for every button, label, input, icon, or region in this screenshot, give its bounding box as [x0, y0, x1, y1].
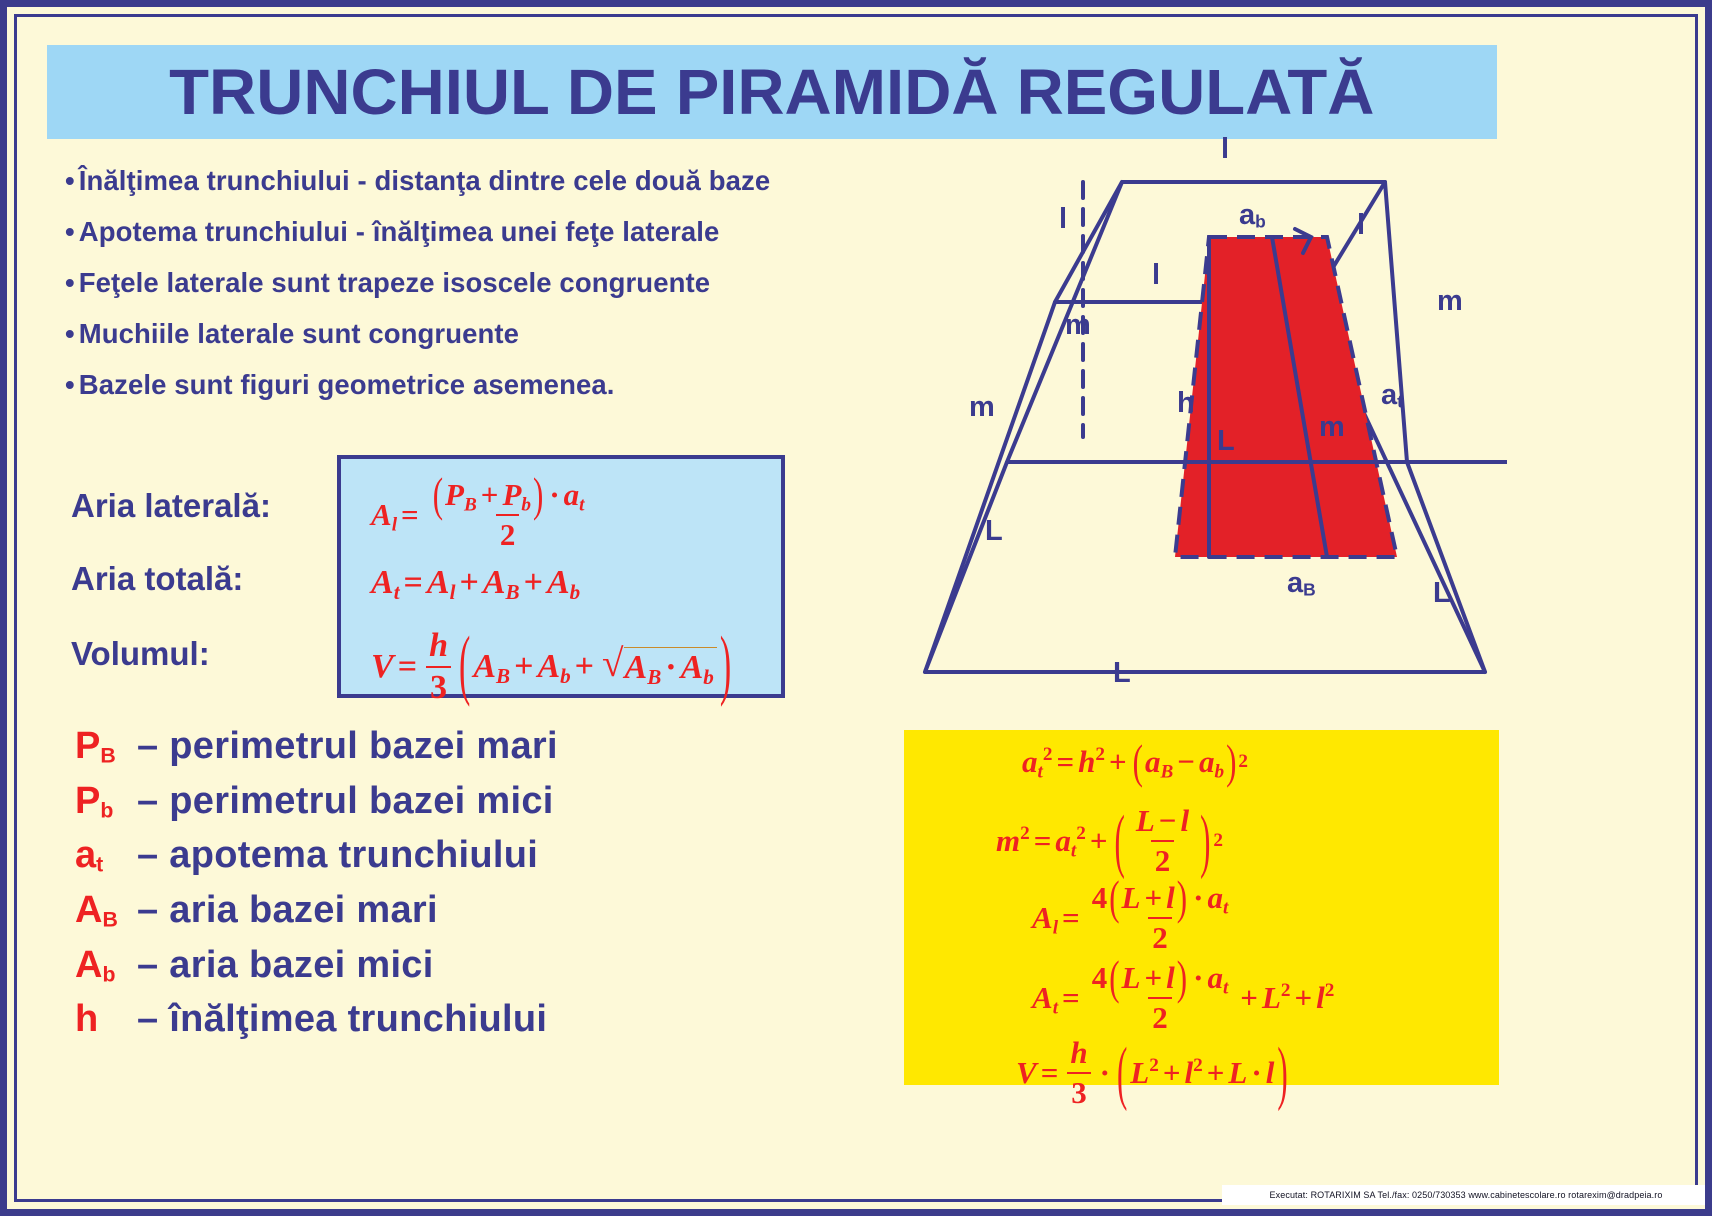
fig-label-L-right: L	[1433, 577, 1451, 610]
legend-symbol: h	[75, 998, 137, 1042]
formula-volumul: V = h 3 ( AB + Ab + √ AB·Ab )	[371, 627, 734, 707]
fig-label-l-right: l	[1357, 209, 1365, 242]
list-item-text: Muchiile laterale sunt congruente	[79, 318, 519, 349]
legend-item-h: h – înălţimea trunchiului	[75, 998, 875, 1042]
legend-item-PB: PB – perimetrul bazei mari	[75, 725, 875, 769]
bullet-icon: •	[65, 216, 75, 247]
properties-list: •Înălţimea trunchiului - distanţa dintre…	[65, 165, 895, 420]
fig-label-m-inner: m	[1065, 309, 1091, 342]
legend-item-Pb: Pb – perimetrul bazei mici	[75, 780, 875, 824]
fig-label-l-mid: l	[1152, 259, 1160, 292]
legend-description: – perimetrul bazei mari	[137, 725, 558, 768]
label-volumul: Volumul:	[71, 635, 210, 673]
list-item-text: Bazele sunt figuri geometrice asemenea.	[79, 369, 615, 400]
fig-label-h: h	[1177, 387, 1195, 420]
legend-symbol: PB	[75, 725, 137, 769]
list-item: •Apotema trunchiului - înălţimea unei fe…	[65, 216, 895, 248]
fig-label-a-t: at	[1381, 379, 1403, 412]
list-item: •Muchiile laterale sunt congruente	[65, 318, 895, 350]
poster-root: TRUNCHIUL DE PIRAMIDĂ REGULATĂ •Înălţime…	[0, 0, 1712, 1216]
lateral-edge-back-right	[1385, 182, 1407, 462]
legend-description: – aria bazei mari	[137, 889, 438, 932]
fig-label-m-right: m	[1437, 285, 1463, 318]
legend-item-at: at – apotema trunchiului	[75, 834, 875, 878]
blue-formula-box: Al = (PB+Pb)·at 2 At = Al + AB + Ab	[337, 455, 785, 698]
fig-label-L-bottom: L	[1113, 657, 1131, 690]
legend-symbol: Ab	[75, 944, 137, 988]
bullet-icon: •	[65, 369, 75, 400]
formula-muchie-relation: m2 = at2 + ( L−l 2 )2	[996, 803, 1223, 879]
footer-credit-text: Executat: ROTARIXIM SA Tel./fax: 0250/73…	[1270, 1190, 1663, 1200]
legend-item-AB: AB – aria bazei mari	[75, 889, 875, 933]
bullet-icon: •	[65, 165, 75, 196]
page-title: TRUNCHIUL DE PIRAMIDĂ REGULATĂ	[169, 55, 1374, 129]
list-item: •Feţele laterale sunt trapeze isoscele c…	[65, 267, 895, 299]
bullet-icon: •	[65, 267, 75, 298]
fig-label-a-b: ab	[1239, 199, 1266, 232]
lateral-edge-front-left	[925, 302, 1055, 672]
label-aria-laterala: Aria laterală:	[71, 487, 271, 525]
legend-item-Ab: Ab – aria bazei mici	[75, 944, 875, 988]
list-item-text: Feţele laterale sunt trapeze isoscele co…	[79, 267, 710, 298]
frustum-svg	[887, 137, 1507, 727]
fig-label-m-center: m	[1319, 411, 1345, 444]
formula-aria-laterala-patrat: Al = 4(L+l)·at 2	[1032, 880, 1236, 956]
fig-label-l-left-upper: l	[1059, 203, 1067, 236]
legend-description: – perimetrul bazei mici	[137, 780, 554, 823]
list-item: •Înălţimea trunchiului - distanţa dintre…	[65, 165, 895, 197]
formula-apotema-relation: at2 = h2 + (aB−ab)2	[1022, 744, 1248, 780]
list-item-text: Apotema trunchiului - înălţimea unei feţ…	[79, 216, 720, 247]
fig-label-l-top: l	[1221, 133, 1229, 166]
fig-label-a-B: aB	[1287, 567, 1316, 600]
fig-label-m-left: m	[969, 391, 995, 424]
frustum-diagram: l l l l ab m m m h at m L L aB L L	[887, 137, 1507, 727]
bullet-icon: •	[65, 318, 75, 349]
legend-symbol: Pb	[75, 780, 137, 824]
legend-description: – înălţimea trunchiului	[137, 998, 547, 1041]
fig-label-L-inner: L	[1217, 425, 1235, 458]
legend-symbol: at	[75, 834, 137, 878]
formula-label-column: Aria laterală: Aria totală: Volumul:	[67, 455, 332, 705]
list-item: •Bazele sunt figuri geometrice asemenea.	[65, 369, 895, 401]
formula-aria-totala-patrat: At = 4(L+l)·at 2 + L2 + l2	[1032, 960, 1334, 1036]
legend-symbol: AB	[75, 889, 137, 933]
yellow-formula-box: at2 = h2 + (aB−ab)2 m2 = at2 + ( L−l 2 )…	[904, 730, 1499, 1085]
list-item-text: Înălţimea trunchiului - distanţa dintre …	[79, 165, 771, 196]
title-band: TRUNCHIUL DE PIRAMIDĂ REGULATĂ	[47, 45, 1497, 139]
formula-aria-totala: At = Al + AB + Ab	[371, 564, 580, 602]
label-aria-totala: Aria totală:	[71, 560, 243, 598]
fig-label-L-left: L	[985, 515, 1003, 548]
formula-volum-patrat: V = h 3 · ( L2 + l2 + L·l )	[1016, 1035, 1291, 1111]
footer-band: Executat: ROTARIXIM SA Tel./fax: 0250/73…	[1222, 1185, 1710, 1205]
notation-legend: PB – perimetrul bazei mari Pb – perimetr…	[75, 725, 875, 1053]
legend-description: – aria bazei mici	[137, 944, 434, 987]
main-formulas-section: Aria laterală: Aria totală: Volumul: Al …	[67, 455, 787, 705]
formula-aria-laterala: Al = (PB+Pb)·at 2	[371, 477, 593, 553]
legend-description: – apotema trunchiului	[137, 834, 538, 877]
